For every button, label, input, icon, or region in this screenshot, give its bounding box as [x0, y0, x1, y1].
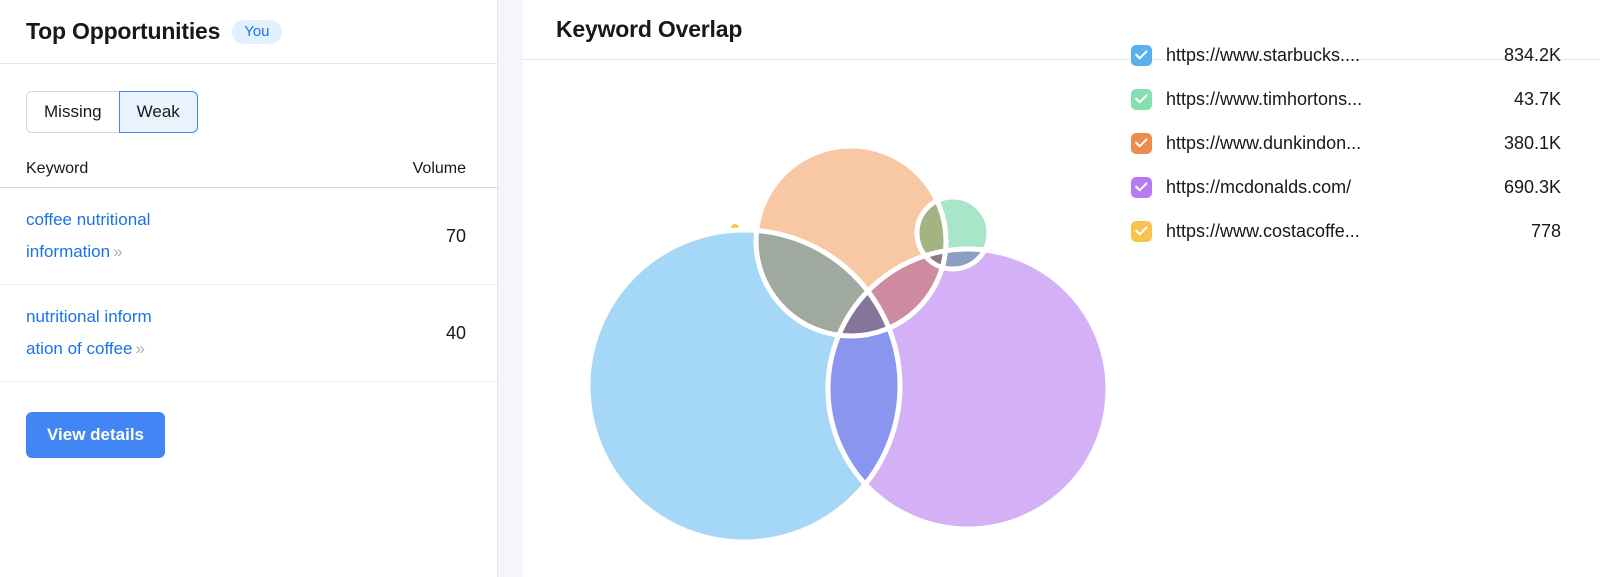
- legend-volume: 43.7K: [1469, 89, 1561, 110]
- checkbox-starbucks[interactable]: [1131, 45, 1152, 66]
- toggle-weak[interactable]: Weak: [119, 91, 198, 133]
- legend-url[interactable]: https://www.costacoffe...: [1152, 221, 1469, 242]
- volume-value: 70: [154, 226, 466, 247]
- legend-url[interactable]: https://www.dunkindon...: [1152, 133, 1469, 154]
- column-header-keyword: Keyword: [26, 160, 413, 178]
- you-badge: You: [232, 20, 281, 44]
- keyword-link[interactable]: coffee nutritional information»: [26, 204, 154, 268]
- top-opportunities-panel: Top Opportunities You Missing Weak Keywo…: [0, 0, 498, 577]
- table-row[interactable]: nutritional information of coffee» 40: [0, 285, 498, 382]
- volume-value: 40: [154, 323, 466, 344]
- venn-legend: https://www.starbucks.... 834.2K https:/…: [1131, 33, 1561, 253]
- legend-item[interactable]: https://www.dunkindon... 380.1K: [1131, 121, 1561, 165]
- filter-toggle-wrap: Missing Weak: [0, 64, 497, 133]
- table-row[interactable]: coffee nutritional information» 70: [0, 188, 498, 285]
- venn-diagram: [523, 60, 1163, 577]
- column-header-volume: Volume: [413, 160, 466, 178]
- toggle-missing[interactable]: Missing: [26, 91, 119, 133]
- keyword-text: coffee nutritional information: [26, 210, 150, 261]
- keyword-overlap-panel: Keyword Overlap https://www.starbucks...…: [523, 0, 1600, 577]
- chevron-double-right-icon[interactable]: »: [110, 242, 121, 261]
- legend-item[interactable]: https://www.starbucks.... 834.2K: [1131, 33, 1561, 77]
- top-opportunities-header: Top Opportunities You: [0, 0, 497, 64]
- keyword-overlap-dashboard: Top Opportunities You Missing Weak Keywo…: [0, 0, 1600, 577]
- venn-svg: [523, 60, 1163, 577]
- checkbox-timhortons[interactable]: [1131, 89, 1152, 110]
- section-title: Keyword Overlap: [556, 16, 742, 43]
- legend-item[interactable]: https://www.costacoffe... 778: [1131, 209, 1561, 253]
- legend-item[interactable]: https://www.timhortons... 43.7K: [1131, 77, 1561, 121]
- view-details-wrap: View details: [0, 382, 497, 458]
- keyword-table: Keyword Volume coffee nutritional inform…: [0, 160, 498, 382]
- checkbox-mcdonalds[interactable]: [1131, 177, 1152, 198]
- legend-volume: 380.1K: [1469, 133, 1561, 154]
- legend-volume: 690.3K: [1469, 177, 1561, 198]
- legend-url[interactable]: https://www.timhortons...: [1152, 89, 1469, 110]
- legend-url[interactable]: https://mcdonalds.com/: [1152, 177, 1469, 198]
- checkbox-costacoffee[interactable]: [1131, 221, 1152, 242]
- legend-item[interactable]: https://mcdonalds.com/ 690.3K: [1131, 165, 1561, 209]
- legend-volume: 778: [1469, 221, 1561, 242]
- keyword-link[interactable]: nutritional information of coffee»: [26, 301, 154, 365]
- page-title: Top Opportunities: [26, 18, 220, 45]
- missing-weak-toggle[interactable]: Missing Weak: [26, 91, 198, 133]
- chevron-double-right-icon[interactable]: »: [133, 339, 144, 358]
- legend-url[interactable]: https://www.starbucks....: [1152, 45, 1469, 66]
- checkbox-dunkindonuts[interactable]: [1131, 133, 1152, 154]
- view-details-button[interactable]: View details: [26, 412, 165, 458]
- panel-divider: [498, 0, 523, 577]
- table-header-row: Keyword Volume: [0, 160, 498, 188]
- legend-volume: 834.2K: [1469, 45, 1561, 66]
